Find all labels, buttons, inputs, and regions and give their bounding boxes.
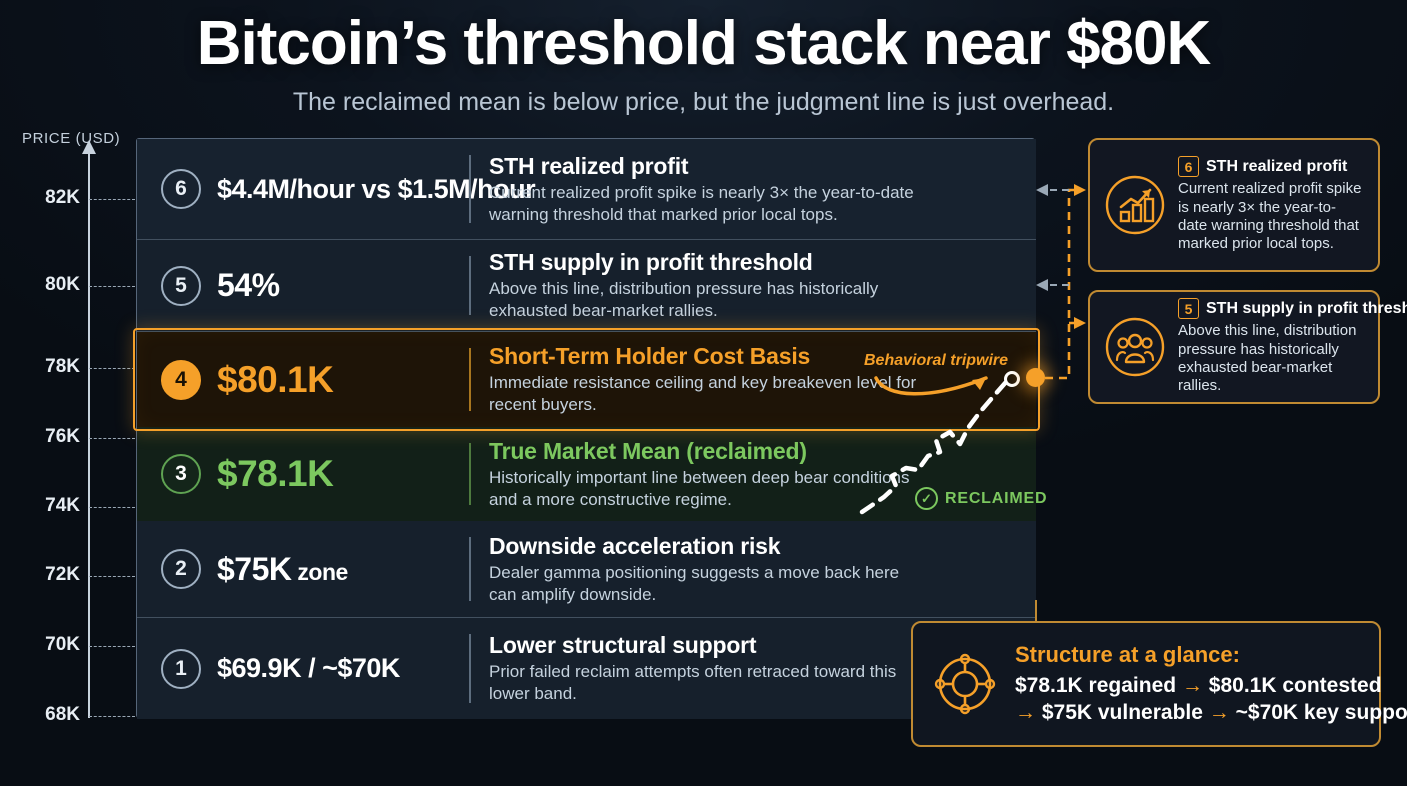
row-2-value: $75K zone: [217, 551, 348, 588]
summary-step-4: ~$70K key support: [1236, 701, 1407, 724]
cost-basis-glow-node: [1026, 368, 1045, 387]
row-2-right: Downside acceleration risk Dealer gamma …: [471, 533, 1036, 606]
check-circle-icon: ✓: [915, 487, 938, 510]
axis-label-price: PRICE (USD): [22, 130, 120, 147]
threshold-stack-panel: 6 $4.4M/hour vs $1.5M/hour STH realized …: [136, 138, 1035, 718]
row-4-badge: 4: [161, 360, 201, 400]
connector-arrowhead-card5-icon: [1074, 317, 1086, 329]
axis-tick: [89, 646, 135, 647]
row-6-title: STH realized profit: [489, 153, 1036, 180]
crosshair-target-icon: [929, 648, 1001, 720]
callout-card-5-head: 5 STH supply in profit threshold: [1178, 298, 1364, 319]
reclaimed-label: RECLAIMED: [945, 490, 1047, 508]
axis-tick: [89, 507, 135, 508]
structure-summary-box[interactable]: Structure at a glance: $78.1K regained →…: [911, 621, 1381, 747]
row-3-desc: Historically important line between deep…: [489, 467, 929, 511]
callout-card-6-desc: Current realized profit spike is nearly …: [1178, 180, 1364, 253]
people-group-icon: [1104, 316, 1166, 378]
row-1-value: $69.9K / ~$70K: [217, 653, 400, 684]
callout-card-6-head: 6 STH realized profit: [1178, 156, 1364, 177]
callout-card-6-body: 6 STH realized profit Current realized p…: [1178, 156, 1364, 253]
arrow-right-icon: →: [1015, 701, 1036, 724]
summary-step-2: $80.1K contested: [1209, 674, 1382, 697]
row-6-right: STH realized profit Current realized pro…: [471, 153, 1036, 226]
axis-tick: [89, 286, 135, 287]
row-2-value-suffix: zone: [292, 559, 348, 585]
callout-card-5-desc: Above this line, distribution pressure h…: [1178, 322, 1364, 395]
page-subtitle: The reclaimed mean is below price, but t…: [0, 88, 1407, 117]
axis-tick: [89, 199, 135, 200]
connector-arrowhead-card6-icon: [1074, 184, 1086, 196]
row-2-desc: Dealer gamma positioning suggests a move…: [489, 562, 929, 606]
axis-line: [88, 152, 90, 718]
threshold-row-1[interactable]: 1 $69.9K / ~$70K Lower structural suppor…: [137, 618, 1036, 719]
reclaimed-badge: ✓ RECLAIMED: [915, 487, 1047, 510]
axis-tick: [89, 368, 135, 369]
row-3-value: $78.1K: [217, 453, 333, 495]
row-4-value: $80.1K: [217, 359, 333, 401]
bar-chart-growth-icon: [1104, 174, 1166, 236]
axis-tick: [89, 716, 135, 717]
callout-card-6-title: STH realized profit: [1206, 158, 1347, 176]
summary-step-3: $75K vulnerable: [1042, 701, 1203, 724]
axis-tick-label: 72K: [18, 564, 80, 586]
threshold-row-6[interactable]: 6 $4.4M/hour vs $1.5M/hour STH realized …: [137, 139, 1036, 240]
arrow-right-icon: →: [1209, 701, 1230, 724]
tripwire-annotation-label: Behavioral tripwire: [864, 352, 1008, 370]
structure-summary-title: Structure at a glance:: [1015, 642, 1407, 668]
row-5-desc: Above this line, distribution pressure h…: [489, 278, 929, 322]
row-4-left: 4 $80.1K: [137, 359, 469, 401]
threshold-row-3[interactable]: 3 $78.1K True Market Mean (reclaimed) Hi…: [137, 427, 1036, 521]
threshold-row-2[interactable]: 2 $75K zone Downside acceleration risk D…: [137, 521, 1036, 618]
structure-summary-line-2: → $75K vulnerable → ~$70K key support: [1015, 699, 1407, 726]
arrow-right-icon: →: [1182, 674, 1203, 697]
row-5-left: 5 54%: [137, 266, 469, 306]
axis-tick: [89, 576, 135, 577]
connector-bus: [1045, 190, 1078, 378]
threshold-row-5[interactable]: 5 54% STH supply in profit threshold Abo…: [137, 240, 1036, 332]
row-5-title: STH supply in profit threshold: [489, 249, 1036, 276]
row5-pointer-arrowhead-icon: [1036, 279, 1048, 291]
row6-pointer-arrowhead-icon: [1036, 184, 1048, 196]
axis-tick: [89, 438, 135, 439]
axis-tick-label: 68K: [18, 704, 80, 726]
callout-card-6[interactable]: 6 STH realized profit Current realized p…: [1088, 138, 1380, 272]
structure-summary-body: Structure at a glance: $78.1K regained →…: [1015, 642, 1407, 727]
callout-card-5-body: 5 STH supply in profit threshold Above t…: [1178, 298, 1364, 395]
row-6-left: 6 $4.4M/hour vs $1.5M/hour: [137, 169, 469, 209]
row-1-desc: Prior failed reclaim attempts often retr…: [489, 661, 929, 705]
row-5-value: 54%: [217, 267, 280, 304]
page-title: Bitcoin’s threshold stack near $80K: [0, 8, 1407, 79]
callout-card-5-number: 5: [1178, 298, 1199, 319]
row-3-badge: 3: [161, 454, 201, 494]
row-6-desc: Current realized profit spike is nearly …: [489, 182, 929, 226]
axis-tick-label: 70K: [18, 634, 80, 656]
axis-tick-label: 74K: [18, 495, 80, 517]
row-5-badge: 5: [161, 266, 201, 306]
row-3-left: 3 $78.1K: [137, 453, 469, 495]
row-2-left: 2 $75K zone: [137, 549, 469, 589]
summary-step-1: $78.1K regained: [1015, 674, 1176, 697]
axis-tick-label: 78K: [18, 356, 80, 378]
callout-card-5-title: STH supply in profit threshold: [1206, 300, 1407, 318]
row-5-right: STH supply in profit threshold Above thi…: [471, 249, 1036, 322]
row-2-value-main: $75K: [217, 551, 292, 587]
callout-card-5[interactable]: 5 STH supply in profit threshold Above t…: [1088, 290, 1380, 404]
callout-card-6-number: 6: [1178, 156, 1199, 177]
row-2-title: Downside acceleration risk: [489, 533, 1036, 560]
row-4-desc: Immediate resistance ceiling and key bre…: [489, 372, 929, 416]
row-6-badge: 6: [161, 169, 201, 209]
row-2-badge: 2: [161, 549, 201, 589]
threshold-row-4[interactable]: 4 $80.1K Short-Term Holder Cost Basis Im…: [137, 332, 1036, 427]
row-1-left: 1 $69.9K / ~$70K: [137, 649, 469, 689]
axis-tick-label: 82K: [18, 187, 80, 209]
axis-tick-label: 80K: [18, 274, 80, 296]
row-3-title: True Market Mean (reclaimed): [489, 438, 1036, 465]
structure-summary-line-1: $78.1K regained → $80.1K contested: [1015, 672, 1407, 699]
row-1-badge: 1: [161, 649, 201, 689]
axis-tick-label: 76K: [18, 426, 80, 448]
infographic-root: Bitcoin’s threshold stack near $80K The …: [0, 0, 1407, 786]
